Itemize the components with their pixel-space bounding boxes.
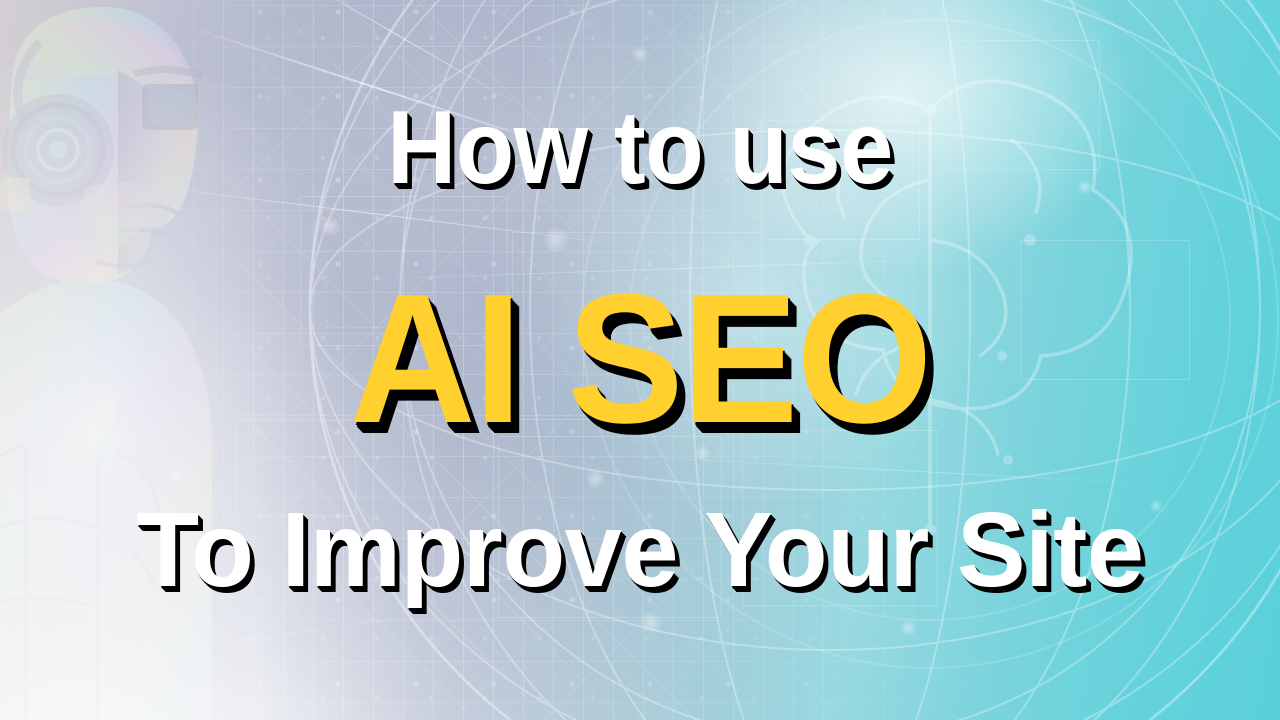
- headline-line-1: How to use: [51, 96, 1229, 200]
- headline-text-block: How to use AI SEO To Improve Your Site: [0, 0, 1280, 720]
- headline-line-3: To Improve Your Site: [19, 497, 1261, 603]
- headline-line-2-accent: AI SEO: [32, 266, 1248, 450]
- thumbnail-canvas: How to use AI SEO To Improve Your Site: [0, 0, 1280, 720]
